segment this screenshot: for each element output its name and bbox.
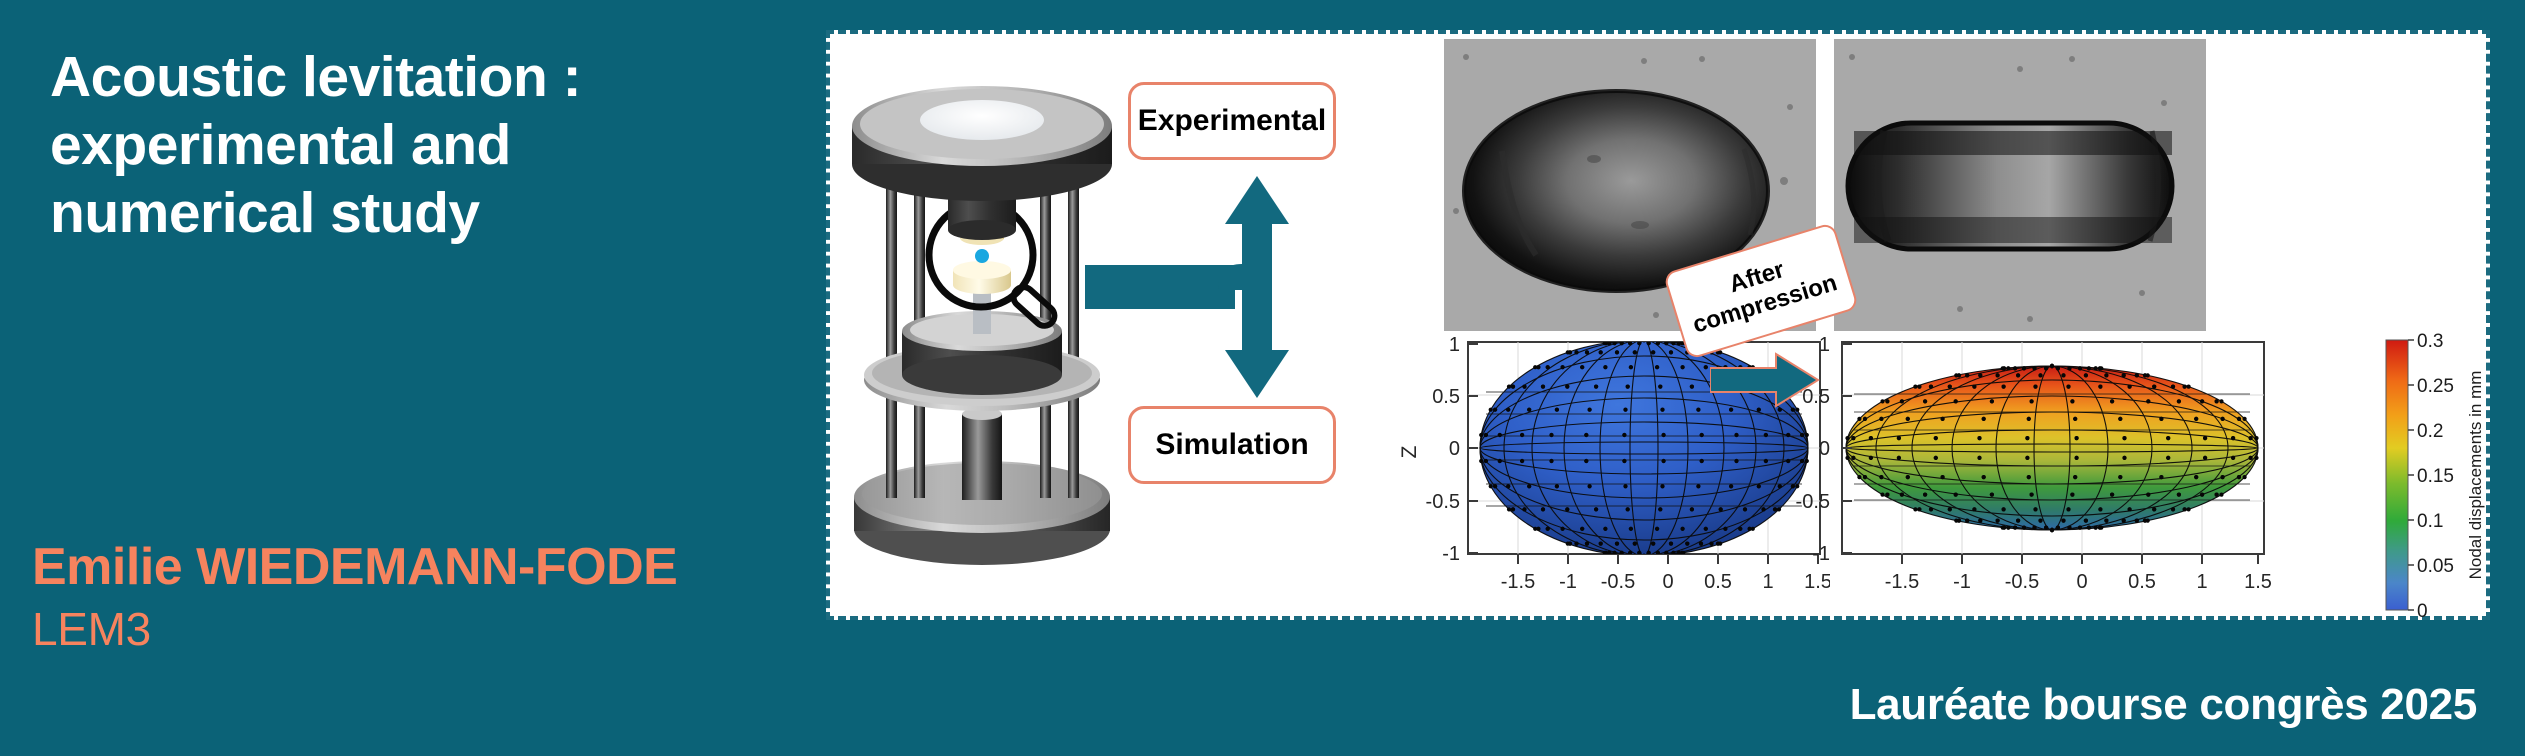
compression-arrow-icon bbox=[1710, 352, 1820, 408]
svg-text:0: 0 bbox=[2076, 571, 2087, 593]
svg-text:0.1: 0.1 bbox=[2417, 511, 2443, 532]
svg-text:-1: -1 bbox=[1442, 543, 1460, 565]
simulation-plot-after: -1.5-1 -0.50 0.51 1.5 bbox=[1834, 334, 2274, 616]
svg-text:1: 1 bbox=[1762, 571, 1773, 593]
flow-label-experimental[interactable]: Experimental bbox=[1128, 82, 1336, 160]
droplet-photo-after bbox=[1834, 39, 2206, 331]
svg-text:0.5: 0.5 bbox=[1704, 571, 1732, 593]
svg-text:0.05: 0.05 bbox=[2417, 556, 2454, 577]
svg-text:Z: Z bbox=[1398, 445, 1421, 458]
author-name: Emilie WIEDEMANN-FODE bbox=[32, 540, 792, 595]
title-line-1: Acoustic levitation : bbox=[50, 44, 770, 112]
award-badge: Lauréate bourse congrès 2025 bbox=[1850, 680, 2477, 730]
colorbar: 0.3 0.25 0.2 0.15 0.1 0.05 0 Nodal displ… bbox=[2380, 326, 2492, 622]
svg-text:-0.5: -0.5 bbox=[2005, 571, 2039, 593]
page-title: Acoustic levitation : experimental and n… bbox=[50, 44, 770, 247]
svg-text:1.5: 1.5 bbox=[2244, 571, 2272, 593]
flow-label-simulation[interactable]: Simulation bbox=[1128, 406, 1336, 484]
svg-text:-1: -1 bbox=[1953, 571, 1971, 593]
svg-text:1: 1 bbox=[1449, 334, 1460, 356]
svg-text:1: 1 bbox=[2196, 571, 2207, 593]
svg-text:0: 0 bbox=[1449, 438, 1460, 460]
svg-text:0: 0 bbox=[1662, 571, 1673, 593]
svg-text:0.5: 0.5 bbox=[1432, 386, 1460, 408]
content-panel-inner: Experimental bbox=[830, 34, 2486, 616]
svg-text:-0.5: -0.5 bbox=[1426, 491, 1460, 513]
svg-text:-1.5: -1.5 bbox=[1885, 571, 1919, 593]
svg-text:0.2: 0.2 bbox=[2417, 421, 2443, 442]
svg-text:-1: -1 bbox=[1559, 571, 1577, 593]
svg-text:0.3: 0.3 bbox=[2417, 331, 2443, 352]
branching-arrow-icon bbox=[1085, 162, 1345, 412]
author-affiliation: LEM3 bbox=[32, 601, 792, 659]
svg-text:-1.5: -1.5 bbox=[1501, 571, 1535, 593]
title-line-3: numerical study bbox=[50, 180, 770, 248]
svg-text:0.25: 0.25 bbox=[2417, 376, 2454, 397]
svg-text:1.5: 1.5 bbox=[1804, 571, 1830, 593]
svg-text:Nodal displacements in mm: Nodal displacements in mm bbox=[2466, 371, 2485, 580]
slide-canvas: Acoustic levitation : experimental and n… bbox=[0, 0, 2525, 756]
acoustic-levitator-apparatus-image bbox=[840, 42, 1120, 612]
author-block: Emilie WIEDEMANN-FODE LEM3 bbox=[32, 540, 792, 658]
svg-text:0.15: 0.15 bbox=[2417, 466, 2454, 487]
svg-text:0.5: 0.5 bbox=[2128, 571, 2156, 593]
title-line-2: experimental and bbox=[50, 112, 770, 180]
svg-text:-0.5: -0.5 bbox=[1601, 571, 1635, 593]
svg-text:0: 0 bbox=[2417, 601, 2428, 622]
content-panel: Experimental bbox=[826, 30, 2490, 620]
